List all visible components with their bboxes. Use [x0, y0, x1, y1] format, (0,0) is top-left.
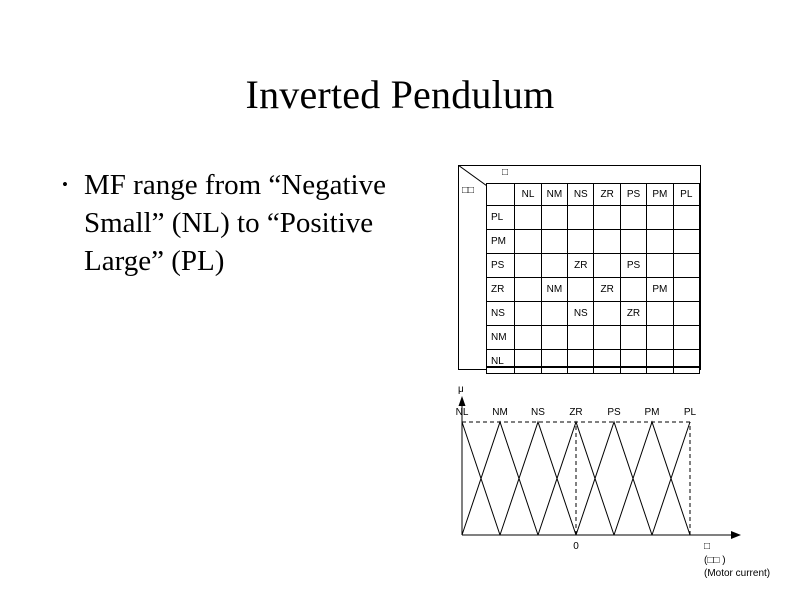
table-row-header: NM [487, 326, 515, 350]
table-cell [673, 230, 699, 254]
table-column-header: PL [673, 184, 699, 206]
y-axis-label: μ [458, 384, 464, 395]
table-row-header: PL [487, 206, 515, 230]
table-cell [515, 278, 541, 302]
mf-term-label: PM [645, 407, 660, 418]
x-axis-label: □ [704, 541, 710, 552]
table-row: PSZRPS [487, 254, 700, 278]
bullet-line: Small” (NL) to “Positive [84, 207, 373, 239]
table-cell: NS [568, 302, 594, 326]
membership-function-chart: NLNMNSZRPSPMPL0μ□(□□ )(Motor current) [452, 382, 792, 582]
y-axis-arrow-icon [459, 396, 466, 406]
table-row-header: PS [487, 254, 515, 278]
list-item: • MF range from “Negative Small” (NL) to… [62, 166, 452, 280]
mf-triangle-ns [500, 422, 576, 535]
table-cell [620, 278, 646, 302]
table-row: NSNSZR [487, 302, 700, 326]
table-cell [541, 254, 567, 278]
bullet-text: MF range from “Negative Small” (NL) to “… [84, 166, 452, 280]
table-bottom-rule [486, 366, 700, 368]
table-row: NM [487, 326, 700, 350]
table-cell [515, 230, 541, 254]
mf-term-label: NS [531, 407, 545, 418]
table-cell [568, 326, 594, 350]
table-cell [541, 230, 567, 254]
table-cell [673, 254, 699, 278]
mf-triangle-ps [576, 422, 652, 535]
table-cell [568, 278, 594, 302]
table-row-variable-label: □□ [462, 185, 474, 197]
table-column-header: NS [568, 184, 594, 206]
table-cell [541, 302, 567, 326]
table-cell [620, 206, 646, 230]
table-cell [594, 206, 620, 230]
table-cell [541, 350, 567, 374]
mf-term-label: ZR [569, 407, 582, 418]
table-column-header: NL [515, 184, 541, 206]
table-cell [673, 206, 699, 230]
x-tick-label: 0 [573, 541, 579, 552]
bullet-line: MF range from “Negative [84, 169, 386, 201]
table-column-header: NM [541, 184, 567, 206]
x-axis-sublabel: (□□ ) [704, 555, 726, 566]
table-column-header: PM [647, 184, 673, 206]
table-cell: ZR [568, 254, 594, 278]
mf-term-label: PS [607, 407, 621, 418]
table-cell [594, 302, 620, 326]
table-cell [647, 230, 673, 254]
mf-term-label: NM [492, 407, 508, 418]
table-column-header: PS [620, 184, 646, 206]
table-row: PM [487, 230, 700, 254]
table-cell [673, 278, 699, 302]
table-cell [515, 254, 541, 278]
table-cell [594, 254, 620, 278]
table-cell [647, 206, 673, 230]
mf-triangle-pm [614, 422, 690, 535]
table-cell: PM [647, 278, 673, 302]
x-axis-arrow-icon [731, 531, 741, 539]
table-cell [541, 206, 567, 230]
table-cell [673, 350, 699, 374]
bullet-marker-icon: • [62, 166, 84, 204]
table-cell [647, 350, 673, 374]
table-cell [541, 326, 567, 350]
table-row-header: NS [487, 302, 515, 326]
table-row-header: ZR [487, 278, 515, 302]
table-cell [647, 326, 673, 350]
table-cell: NM [541, 278, 567, 302]
table-cell [594, 230, 620, 254]
x-axis-sublabel-motor-current: (Motor current) [704, 568, 770, 579]
table-cell [673, 302, 699, 326]
table-cell: ZR [620, 302, 646, 326]
table-cell [515, 302, 541, 326]
table-row-header: NL [487, 350, 515, 374]
table-cell [620, 230, 646, 254]
table-row-header: PM [487, 230, 515, 254]
table-cell [647, 254, 673, 278]
table-cell [515, 206, 541, 230]
table-cell [515, 326, 541, 350]
table-cell: PS [620, 254, 646, 278]
table-column-header: ZR [594, 184, 620, 206]
table-column-variable-label: □ [502, 167, 508, 179]
table-cell [515, 350, 541, 374]
fuzzy-rule-table: □ □□ NLNMNSZRPSPMPLPLPMPSZRPSZRNMZRPMNSN… [458, 165, 701, 370]
table-cell [568, 206, 594, 230]
table-row: PL [487, 206, 700, 230]
table-cell [568, 230, 594, 254]
table-row: ZRNMZRPM [487, 278, 700, 302]
table-row: NL [487, 350, 700, 374]
bullet-line: Large” (PL) [84, 245, 224, 277]
page-title: Inverted Pendulum [0, 73, 800, 117]
table-cell [673, 326, 699, 350]
table-cell [594, 326, 620, 350]
table-header-row: NLNMNSZRPSPMPL [487, 184, 700, 206]
table-cell [647, 302, 673, 326]
bullet-list: • MF range from “Negative Small” (NL) to… [62, 166, 452, 280]
mf-term-label: NL [456, 407, 469, 418]
table-cell [594, 350, 620, 374]
table-cell [620, 350, 646, 374]
mf-triangle-nm [462, 422, 538, 535]
table-cell [620, 326, 646, 350]
mf-term-label: PL [684, 407, 697, 418]
table-cell [568, 350, 594, 374]
table-cell: ZR [594, 278, 620, 302]
table-header-corner [487, 184, 515, 206]
rule-grid: NLNMNSZRPSPMPLPLPMPSZRPSZRNMZRPMNSNSZRNM… [486, 183, 700, 374]
